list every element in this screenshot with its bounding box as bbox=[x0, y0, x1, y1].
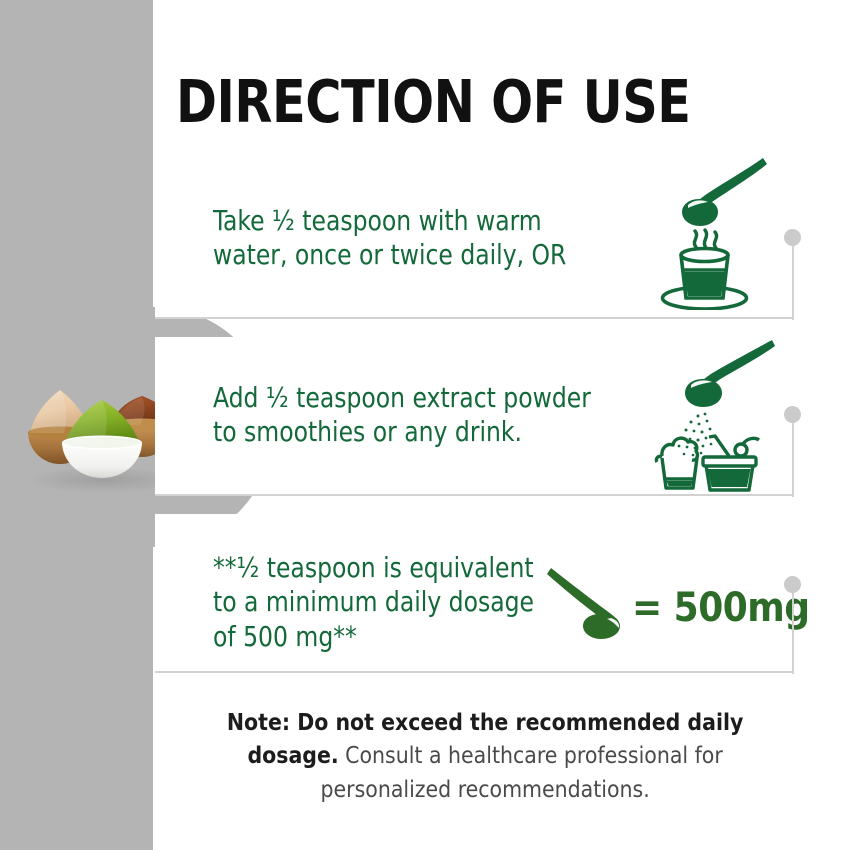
pin-dot-1 bbox=[784, 229, 801, 246]
step-2-text: Add ½ teaspoon extract powder to smoothi… bbox=[213, 381, 591, 450]
infographic-canvas: DIRECTION OF USE Take ½ teaspoon with wa… bbox=[0, 0, 850, 850]
pin-dot-2 bbox=[784, 406, 801, 423]
footer-note-regular: Consult a healthcare professional for pe… bbox=[321, 741, 723, 802]
step-3-text: **½ teaspoon is equivalent to a minimum … bbox=[213, 551, 534, 654]
page-title: DIRECTION OF USE bbox=[176, 72, 691, 131]
pin-dot-3 bbox=[784, 576, 801, 593]
step-1-text: Take ½ teaspoon with warm water, once or… bbox=[213, 204, 566, 273]
spoon-over-steaming-glass-icon bbox=[660, 152, 772, 310]
pin-stem-1 bbox=[792, 243, 794, 320]
dosage-equivalence-label: = 500mg bbox=[632, 588, 810, 628]
spoon-sprinkling-over-smoothies-icon bbox=[653, 338, 778, 493]
pin-stem-2 bbox=[792, 420, 794, 497]
footer-note: Note: Do not exceed the recommended dail… bbox=[182, 706, 788, 806]
pin-stem-3 bbox=[792, 590, 794, 674]
